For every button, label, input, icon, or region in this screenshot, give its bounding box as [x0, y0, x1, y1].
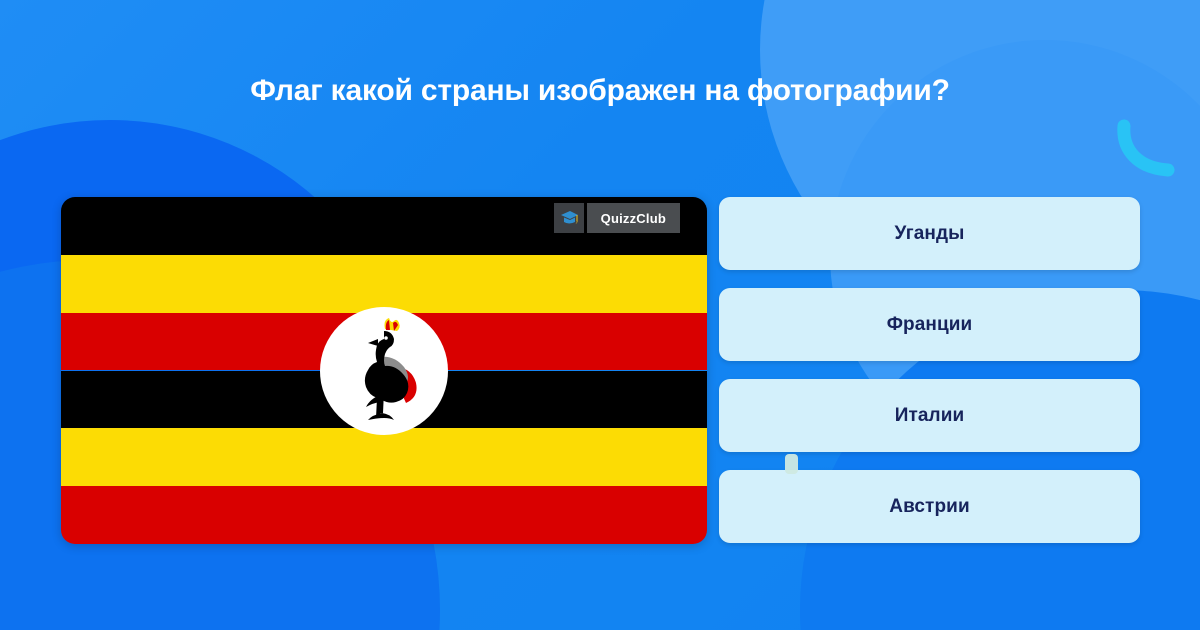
answer-option-1-label: Уганды — [895, 223, 965, 245]
quiz-card: Флаг какой страны изображен на фотографи… — [0, 0, 1200, 630]
flag-image: QuizzClub — [61, 197, 707, 544]
flag-stripe-2 — [61, 255, 707, 313]
arc-accent-icon — [1118, 122, 1176, 180]
answer-connector-nub — [785, 454, 798, 474]
answer-option-4-label: Австрии — [889, 496, 969, 518]
graduation-cap-icon — [554, 203, 584, 233]
answer-options-list: Уганды Франции Италии Австрии — [719, 197, 1140, 543]
answer-option-3-label: Италии — [895, 405, 965, 427]
flag-stripe-6 — [61, 486, 707, 544]
answer-option-3[interactable]: Италии — [719, 379, 1140, 452]
answer-option-2[interactable]: Франции — [719, 288, 1140, 361]
page-title: Флаг какой страны изображен на фотографи… — [0, 74, 1200, 108]
answer-option-1[interactable]: Уганды — [719, 197, 1140, 270]
answer-option-4[interactable]: Австрии — [719, 470, 1140, 543]
answer-option-2-label: Франции — [887, 314, 973, 336]
watermark: QuizzClub — [554, 203, 680, 233]
crowned-crane-emblem-icon — [320, 307, 448, 435]
watermark-label: QuizzClub — [587, 203, 680, 233]
flag-stripe-5 — [61, 428, 707, 486]
